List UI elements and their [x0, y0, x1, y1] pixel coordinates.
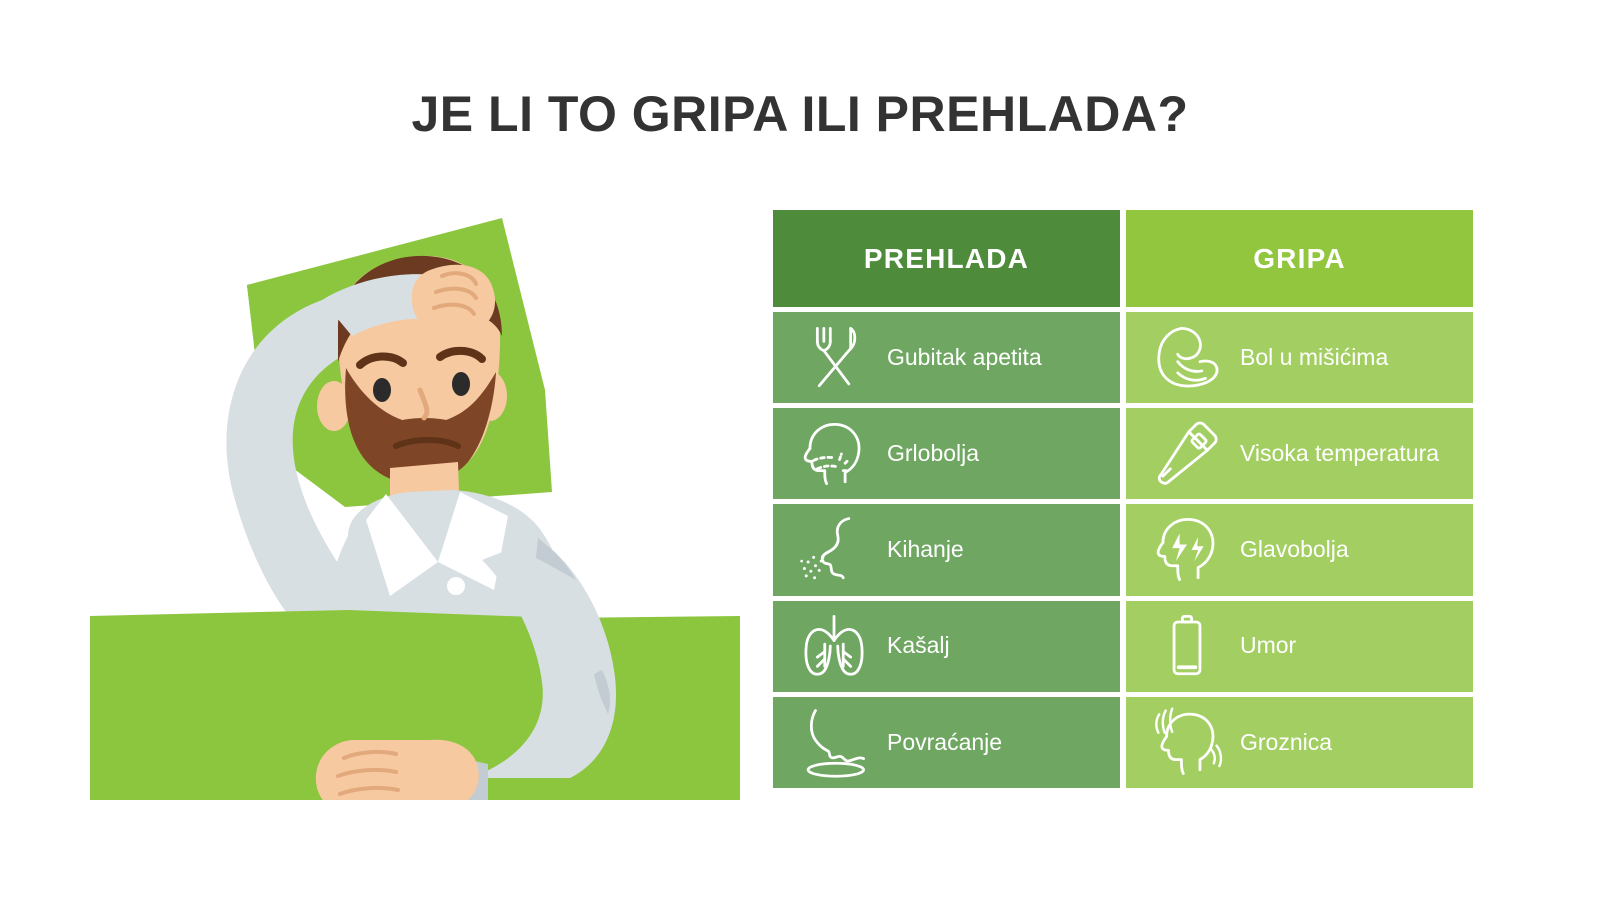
low-battery-icon: [1144, 604, 1230, 688]
table-row[interactable]: Gubitak apetita: [773, 312, 1120, 403]
infographic-page: JE LI TO GRIPA ILI PREHLADA?: [0, 0, 1600, 900]
column-prehlada: PREHLADA Gubitak apetita: [773, 210, 1120, 788]
sick-man-svg: [90, 200, 740, 800]
thermometer-icon: [1144, 412, 1230, 496]
table-row[interactable]: Umor: [1126, 601, 1473, 692]
row-label: Groznica: [1230, 728, 1332, 757]
table-row[interactable]: Visoka temperatura: [1126, 408, 1473, 499]
lungs-icon: [791, 604, 877, 688]
sore-throat-head-icon: [791, 412, 877, 496]
sneezing-head-icon: [791, 508, 877, 592]
row-label: Visoka temperatura: [1230, 439, 1439, 468]
row-label: Kihanje: [877, 535, 964, 564]
table-row[interactable]: Kihanje: [773, 504, 1120, 595]
page-title: JE LI TO GRIPA ILI PREHLADA?: [0, 85, 1600, 143]
vomiting-head-icon: [791, 700, 877, 784]
table-row[interactable]: Groznica: [1126, 697, 1473, 788]
column-header-gripa: GRIPA: [1126, 210, 1473, 307]
table-row[interactable]: Kašalj: [773, 601, 1120, 692]
row-label: Gubitak apetita: [877, 343, 1042, 372]
table-row[interactable]: Povraćanje: [773, 697, 1120, 788]
table-row[interactable]: Glavobolja: [1126, 504, 1473, 595]
table-row[interactable]: Bol u mišićima: [1126, 312, 1473, 403]
flexed-bicep-icon: [1144, 316, 1230, 400]
row-label: Grlobolja: [877, 439, 979, 468]
symptom-comparison-table: PREHLADA Gubitak apetita: [773, 210, 1473, 788]
row-label: Povraćanje: [877, 728, 1002, 757]
fork-and-knife-icon: [791, 316, 877, 400]
sick-man-illustration: [90, 200, 740, 800]
shivering-head-icon: [1144, 700, 1230, 784]
row-label: Bol u mišićima: [1230, 343, 1388, 372]
column-gripa: GRIPA Bol u mišićima: [1126, 210, 1473, 788]
column-header-prehlada: PREHLADA: [773, 210, 1120, 307]
table-row[interactable]: Grlobolja: [773, 408, 1120, 499]
head-lightning-icon: [1144, 508, 1230, 592]
row-label: Umor: [1230, 631, 1296, 660]
row-label: Kašalj: [877, 631, 950, 660]
row-label: Glavobolja: [1230, 535, 1349, 564]
